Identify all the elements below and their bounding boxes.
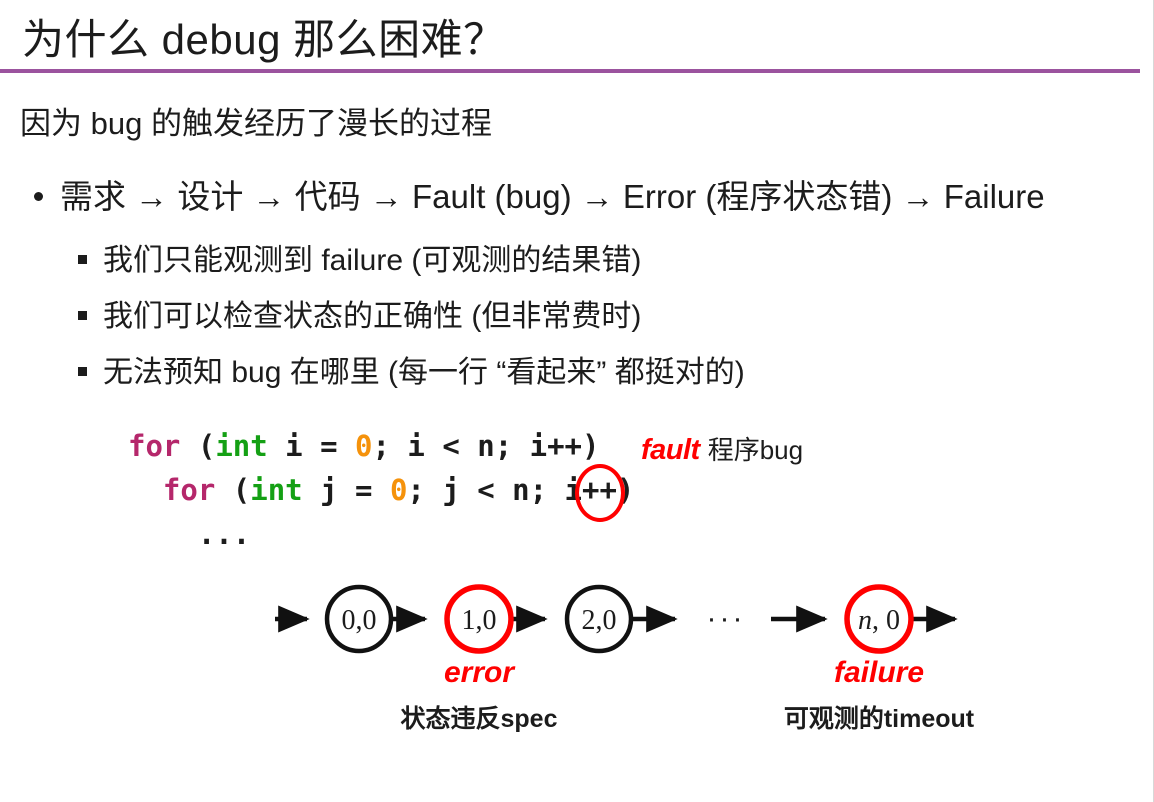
code-ellipsis-line: ... bbox=[128, 517, 250, 551]
code-text: j = bbox=[303, 473, 390, 507]
bullet-level2-label: 无法预知 bug 在哪里 (每一行 “看起来” 都挺对的) bbox=[103, 347, 745, 391]
code-block: for (int i = 0; i < n; i++) for (int j =… bbox=[128, 424, 634, 556]
diagram-caption-right: 可观测的timeout bbox=[784, 704, 975, 733]
code-punct: ( bbox=[180, 429, 215, 463]
code-number-zero: 0 bbox=[390, 473, 407, 507]
bullet-level2-label: 我们只能观测到 failure (可观测的结果错) bbox=[103, 235, 641, 279]
code-text: ; i < n; i++) bbox=[372, 429, 599, 463]
state-node-1-sublabel: error bbox=[444, 656, 516, 689]
bullet-level2-2: 无法预知 bug 在哪里 (每一行 “看起来” 都挺对的) bbox=[78, 347, 745, 391]
state-node-n: n, 0 failure bbox=[834, 587, 924, 689]
code-type-int: int bbox=[250, 473, 302, 507]
code-punct: ( bbox=[215, 473, 250, 507]
state-node-n-sublabel: failure bbox=[834, 656, 924, 689]
bullet-level2-label: 我们可以检查状态的正确性 (但非常费时) bbox=[103, 291, 641, 335]
code-keyword-for: for bbox=[163, 473, 215, 507]
state-node-1-label: 1,0 bbox=[462, 605, 497, 636]
bullet-level1-label: 需求 → 设计 → 代码 → Fault (bug) → Error (程序状态… bbox=[60, 170, 1045, 218]
state-diagram: 0,0 1,0 error 2,0 ··· n, 0 failure bbox=[255, 560, 1015, 760]
state-node-1: 1,0 error bbox=[444, 587, 516, 689]
bullet-square-icon bbox=[78, 367, 87, 376]
annotation-fault-label: fault bbox=[641, 434, 700, 466]
diagram-caption-left: 状态违反spec bbox=[401, 705, 558, 733]
bullet-level2-1: 我们可以检查状态的正确性 (但非常费时) bbox=[78, 291, 641, 335]
diagram-ellipsis: ··· bbox=[707, 602, 746, 635]
state-node-2: 2,0 bbox=[567, 587, 631, 651]
bullet-level1: 需求 → 设计 → 代码 → Fault (bug) → Error (程序状态… bbox=[34, 170, 1045, 218]
title-divider bbox=[0, 69, 1140, 73]
subtitle-text: 因为 bug 的触发经历了漫长的过程 bbox=[20, 98, 492, 143]
page-title: 为什么 debug 那么困难？ bbox=[22, 6, 506, 67]
code-type-int: int bbox=[215, 429, 267, 463]
code-text: i = bbox=[268, 429, 355, 463]
state-node-0-label: 0,0 bbox=[342, 605, 377, 636]
state-node-2-label: 2,0 bbox=[582, 605, 617, 636]
state-node-0: 0,0 bbox=[327, 587, 391, 651]
annotation-fault-note: 程序bug bbox=[708, 435, 803, 465]
code-number-zero: 0 bbox=[355, 429, 372, 463]
annotation-fault: fault程序bug bbox=[641, 430, 803, 467]
slide-canvas: 为什么 debug 那么困难？ 因为 bug 的触发经历了漫长的过程 需求 → … bbox=[0, 0, 1154, 802]
bug-highlight-ellipse bbox=[575, 464, 625, 522]
bullet-square-icon bbox=[78, 311, 87, 320]
bullet-dot-icon bbox=[34, 192, 43, 201]
code-indent bbox=[128, 473, 163, 507]
bullet-square-icon bbox=[78, 255, 87, 264]
state-node-n-label: n, 0 bbox=[858, 605, 900, 636]
code-keyword-for: for bbox=[128, 429, 180, 463]
bullet-level2-0: 我们只能观测到 failure (可观测的结果错) bbox=[78, 235, 641, 279]
